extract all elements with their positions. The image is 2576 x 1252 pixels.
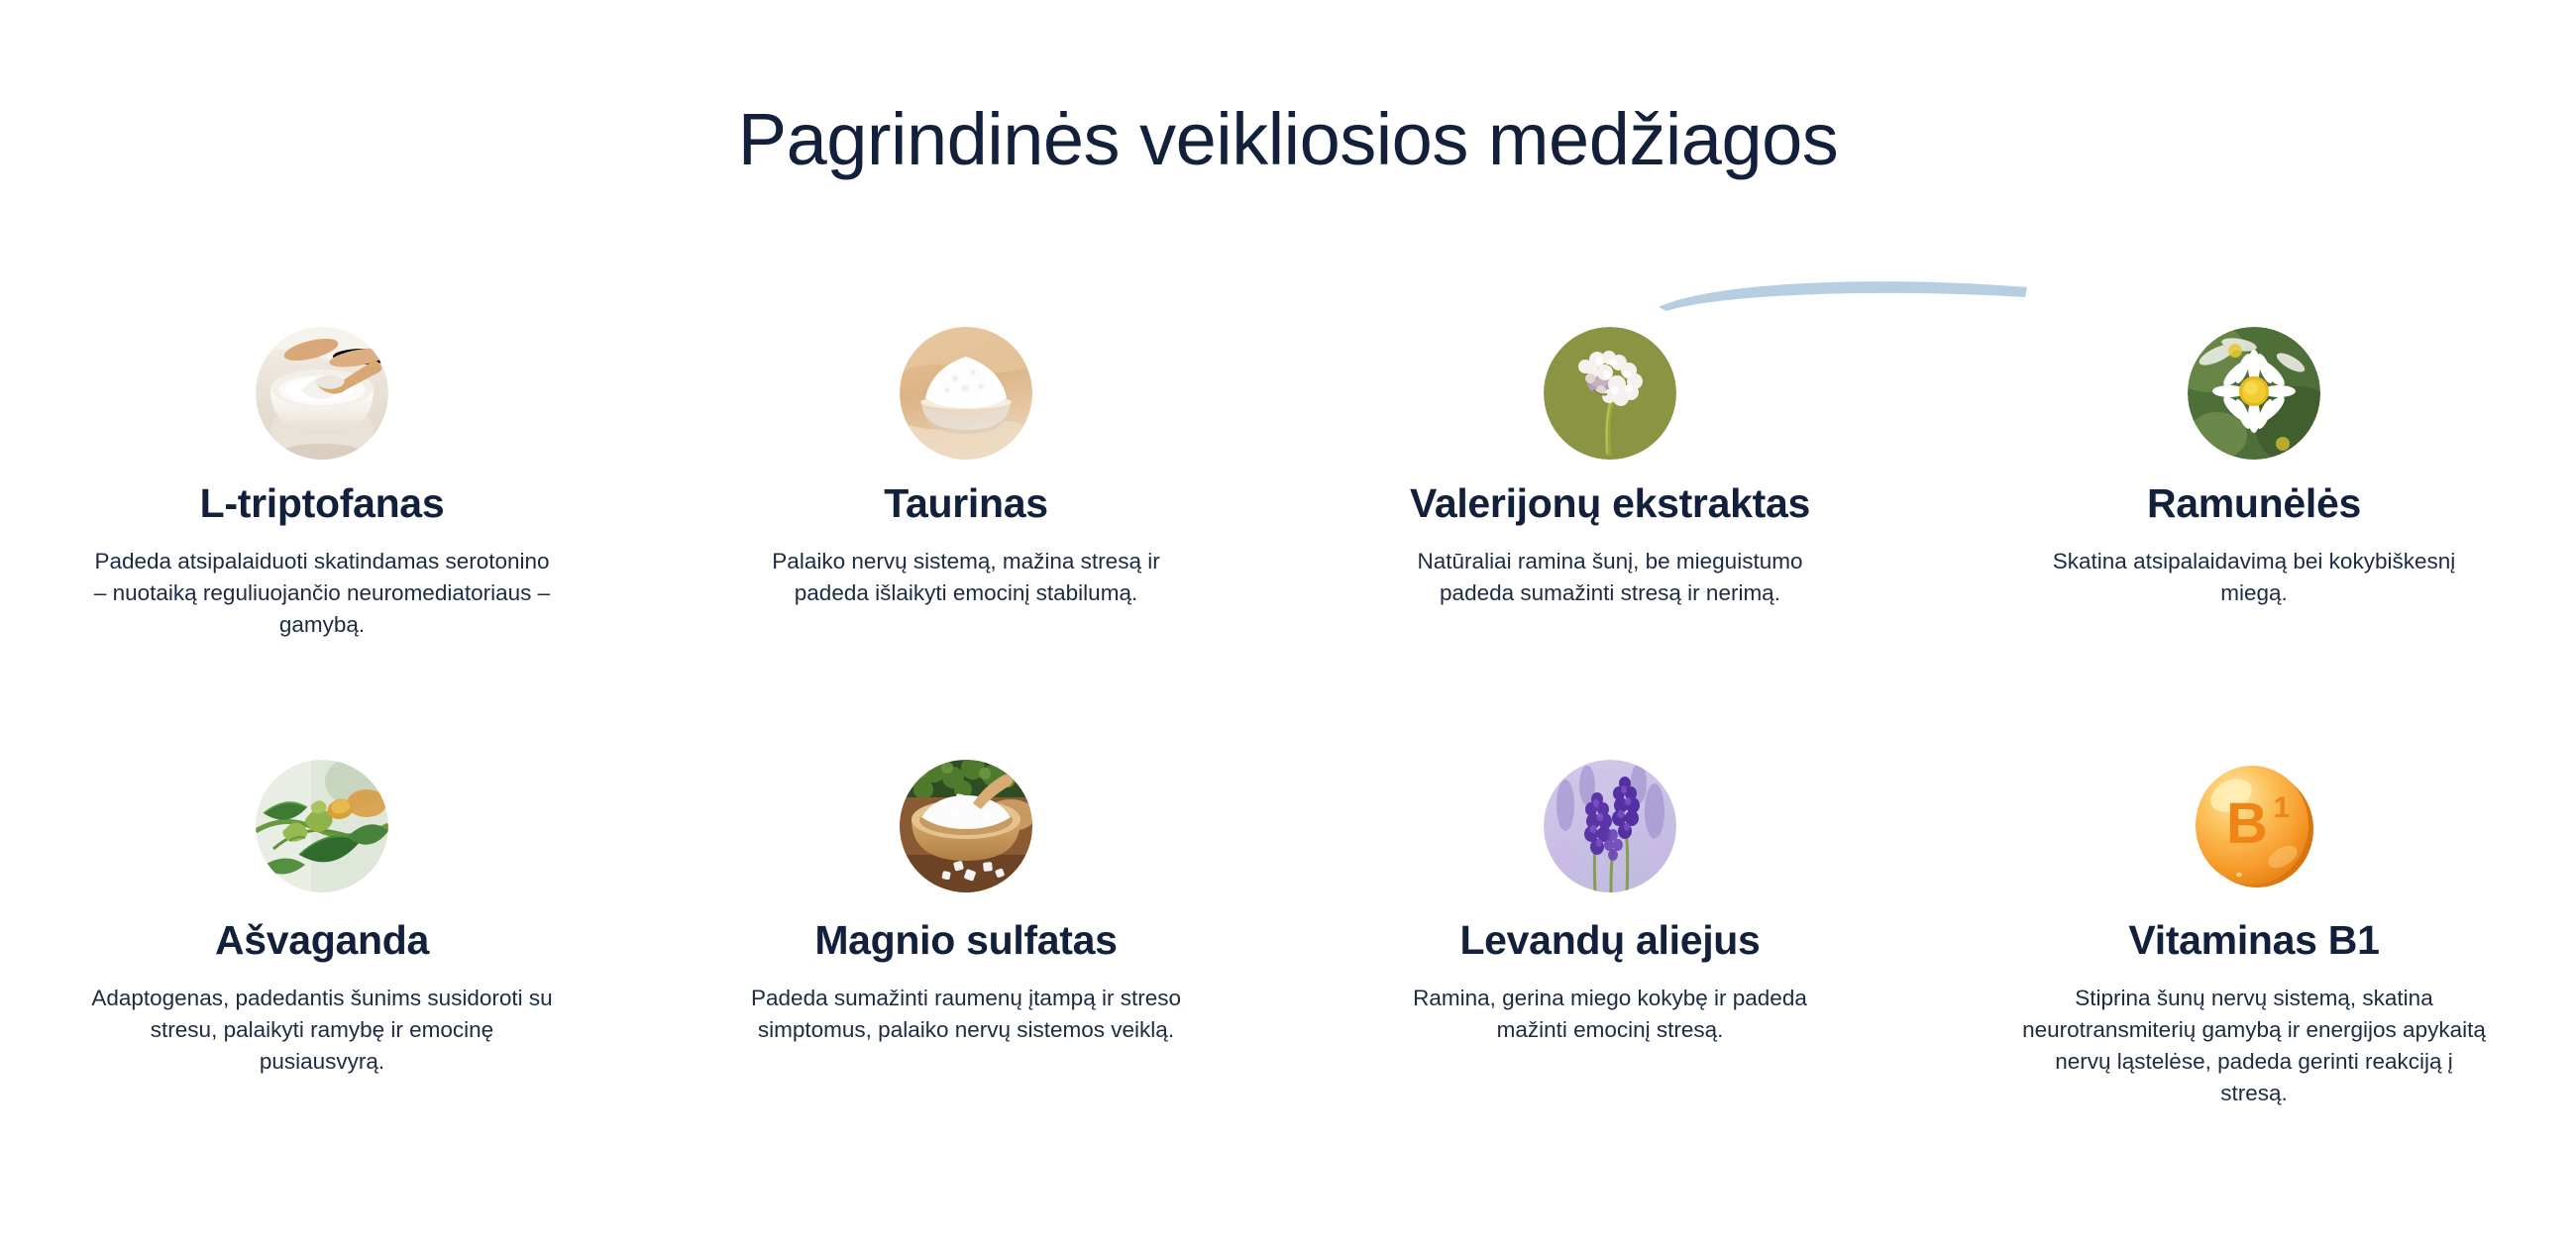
capsule-label-superscript: 1: [2274, 791, 2291, 824]
ingredient-card-asvaganda: Ašvaganda Adaptogenas, padedantis šunims…: [0, 760, 644, 1109]
ingredient-title: Valerijonų ekstraktas: [1312, 481, 1908, 526]
ingredient-title: Ašvaganda: [24, 918, 620, 963]
ingredient-description: Skatina atsipalaidavimą bei kokybiškesnį…: [2021, 546, 2487, 609]
lavender-flowers-photo: [1544, 760, 1676, 892]
ingredient-card-l-triptofanas: L-triptofanas Padeda atsipalaiduoti skat…: [0, 327, 644, 641]
ingredient-description: Adaptogenas, padedantis šunims susidorot…: [89, 983, 555, 1078]
ingredient-description: Palaiko nervų sistemą, mažina stresą ir …: [733, 546, 1199, 609]
ingredient-title: Levandų aliejus: [1312, 918, 1908, 963]
ingredient-title: Ramunėlės: [1956, 481, 2552, 526]
ingredient-card-vitaminas-b1: B 1 Vitaminas B1 Stiprina šunų nervų sis…: [1932, 760, 2576, 1109]
ashwagandha-plant-leaves-photo: [256, 760, 388, 892]
glass-bowl-of-white-powder-on-wood-photo: [900, 327, 1032, 460]
ingredients-grid: L-triptofanas Padeda atsipalaiduoti skat…: [0, 327, 2576, 1109]
ingredient-card-taurinas: Taurinas Palaiko nervų sistemą, mažina s…: [644, 327, 1288, 641]
ingredient-card-valerijonu-ekstraktas: Valerijonų ekstraktas Natūraliai ramina …: [1288, 327, 1932, 641]
page-title: Pagrindinės veikliosios medžiagos: [738, 103, 1839, 176]
orange-vitamin-b1-softgel-capsule-icon: B 1: [2188, 760, 2320, 892]
ingredient-description: Padeda sumažinti raumenų įtampą ir stres…: [733, 983, 1199, 1046]
valerian-flower-photo: [1544, 327, 1676, 460]
ingredient-description: Stiprina šunų nervų sistemą, skatina neu…: [2021, 983, 2487, 1109]
ingredient-card-magnio-sulfatas: Magnio sulfatas Padeda sumažinti raumenų…: [644, 760, 1288, 1109]
ingredient-title: Magnio sulfatas: [668, 918, 1264, 963]
ingredients-section: Pagrindinės veikliosios medžiagos: [0, 0, 2576, 1252]
ingredient-title: Taurinas: [668, 481, 1264, 526]
page-title-text: Pagrindinės veikliosios medžiagos: [738, 98, 1839, 180]
ingredient-card-levandu-aliejus: Levandų aliejus Ramina, gerina miego kok…: [1288, 760, 1932, 1109]
ingredient-title: L-triptofanas: [24, 481, 620, 526]
ingredient-card-ramuneles: Ramunėlės Skatina atsipalaidavimą bei ko…: [1932, 327, 2576, 641]
ingredient-description: Padeda atsipalaiduoti skatindamas seroto…: [89, 546, 555, 641]
ingredient-description: Natūraliai ramina šunį, be mieguistumo p…: [1377, 546, 1843, 609]
ingredient-title: Vitaminas B1: [1956, 918, 2552, 963]
section-heading: Pagrindinės veikliosios medžiagos: [0, 103, 2576, 176]
title-underline-swoosh: [1655, 271, 2031, 311]
capsule-label-b: B: [2226, 791, 2268, 856]
wooden-bowl-of-epsom-salt-photo: [900, 760, 1032, 892]
chamomile-daisy-flower-photo: [2188, 327, 2320, 460]
ingredient-description: Ramina, gerina miego kokybę ir padeda ma…: [1377, 983, 1843, 1046]
bowl-of-white-powder-with-wooden-spoon-photo: [256, 327, 388, 460]
